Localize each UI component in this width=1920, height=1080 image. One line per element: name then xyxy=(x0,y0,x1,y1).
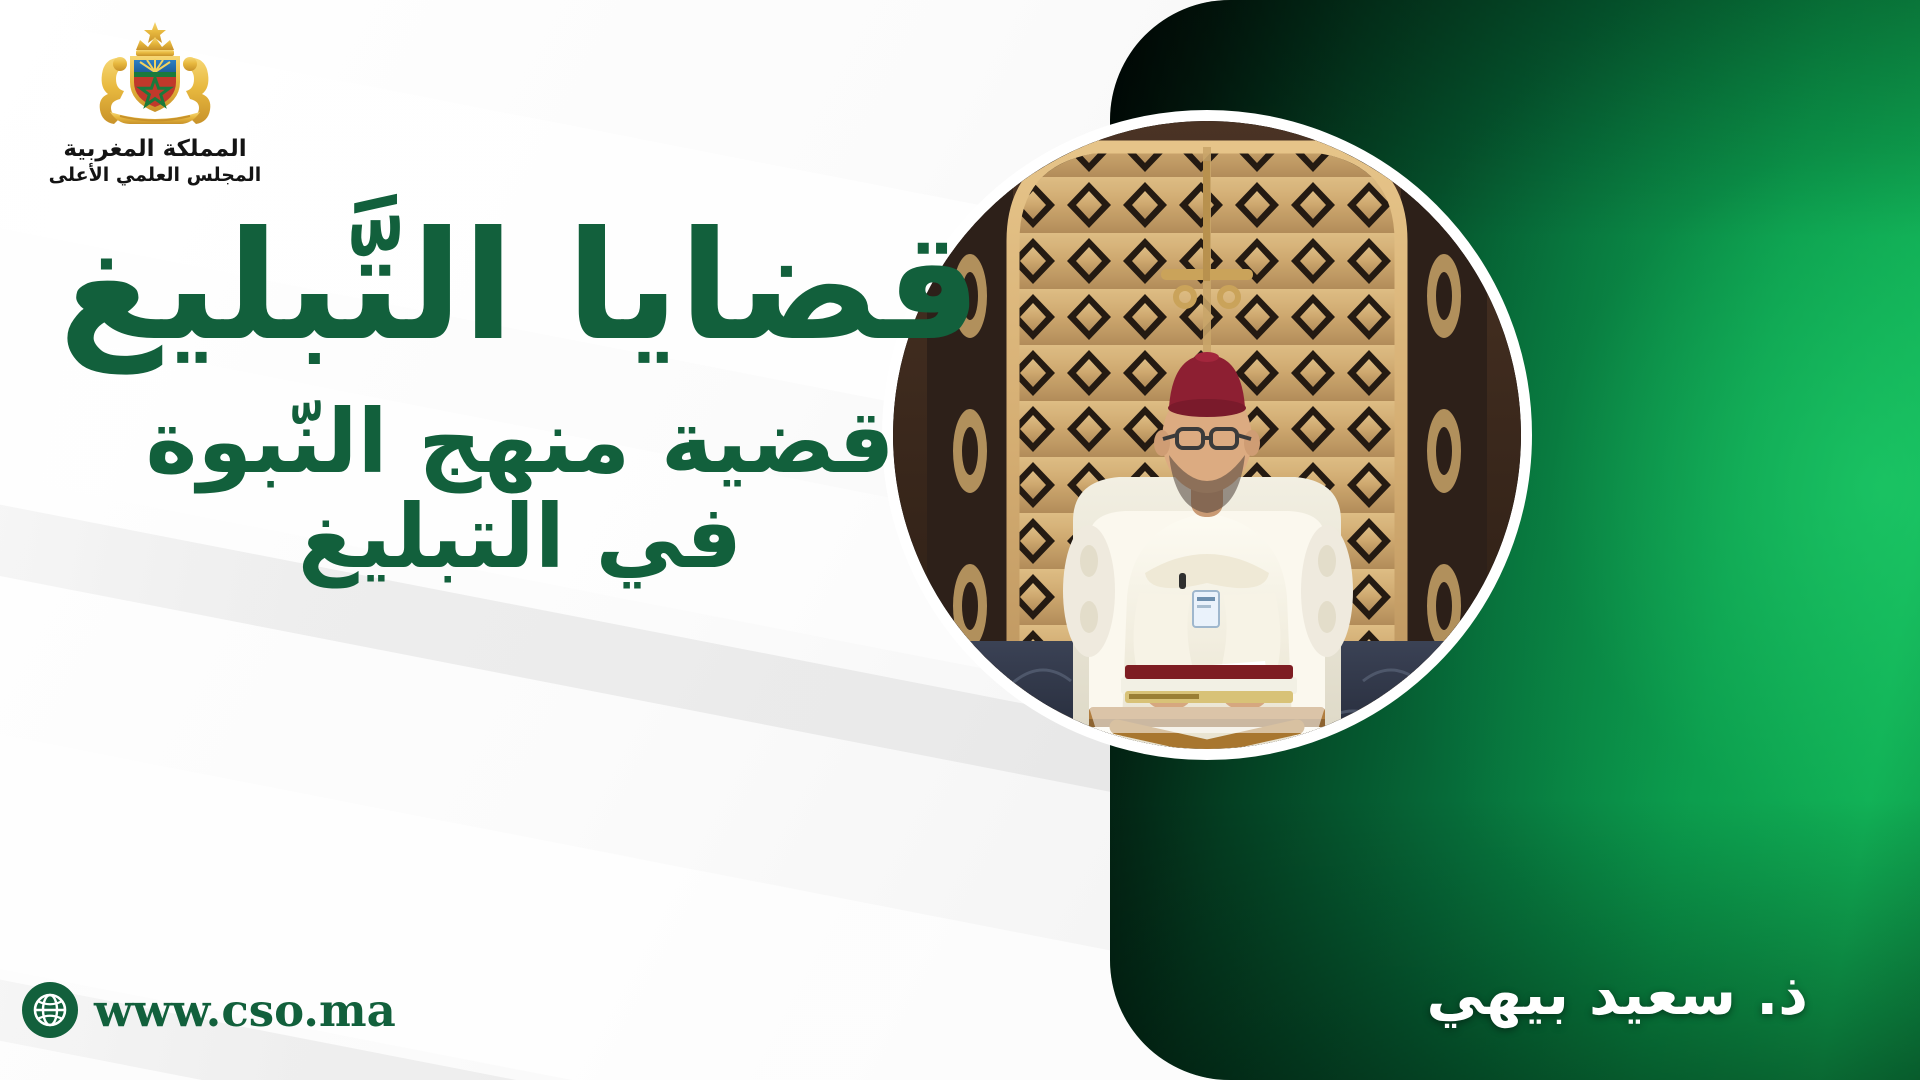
poster-canvas: المملكة المغربية المجلس العلمي الأعلى قض… xyxy=(0,0,1920,1080)
moroccan-coat-of-arms-icon xyxy=(70,20,240,132)
branding-block: المملكة المغربية المجلس العلمي الأعلى xyxy=(40,20,270,186)
title-block: قضايا التَّبليغ قضية منهج النّبوة في الت… xyxy=(0,215,1040,586)
page-title: قضايا التَّبليغ xyxy=(0,215,1040,359)
website-row[interactable]: www.cso.ma xyxy=(22,982,396,1038)
website-url[interactable]: www.cso.ma xyxy=(94,984,396,1037)
speaker-name: ذ. سعيد بيهي xyxy=(1426,960,1808,1028)
council-label: المجلس العلمي الأعلى xyxy=(40,164,270,186)
kingdom-label: المملكة المغربية xyxy=(40,136,270,162)
subtitle-line-1: قضية منهج النّبوة xyxy=(0,393,1040,492)
subtitle-line-2: في التبليغ xyxy=(0,488,1040,587)
globe-icon xyxy=(22,982,78,1038)
